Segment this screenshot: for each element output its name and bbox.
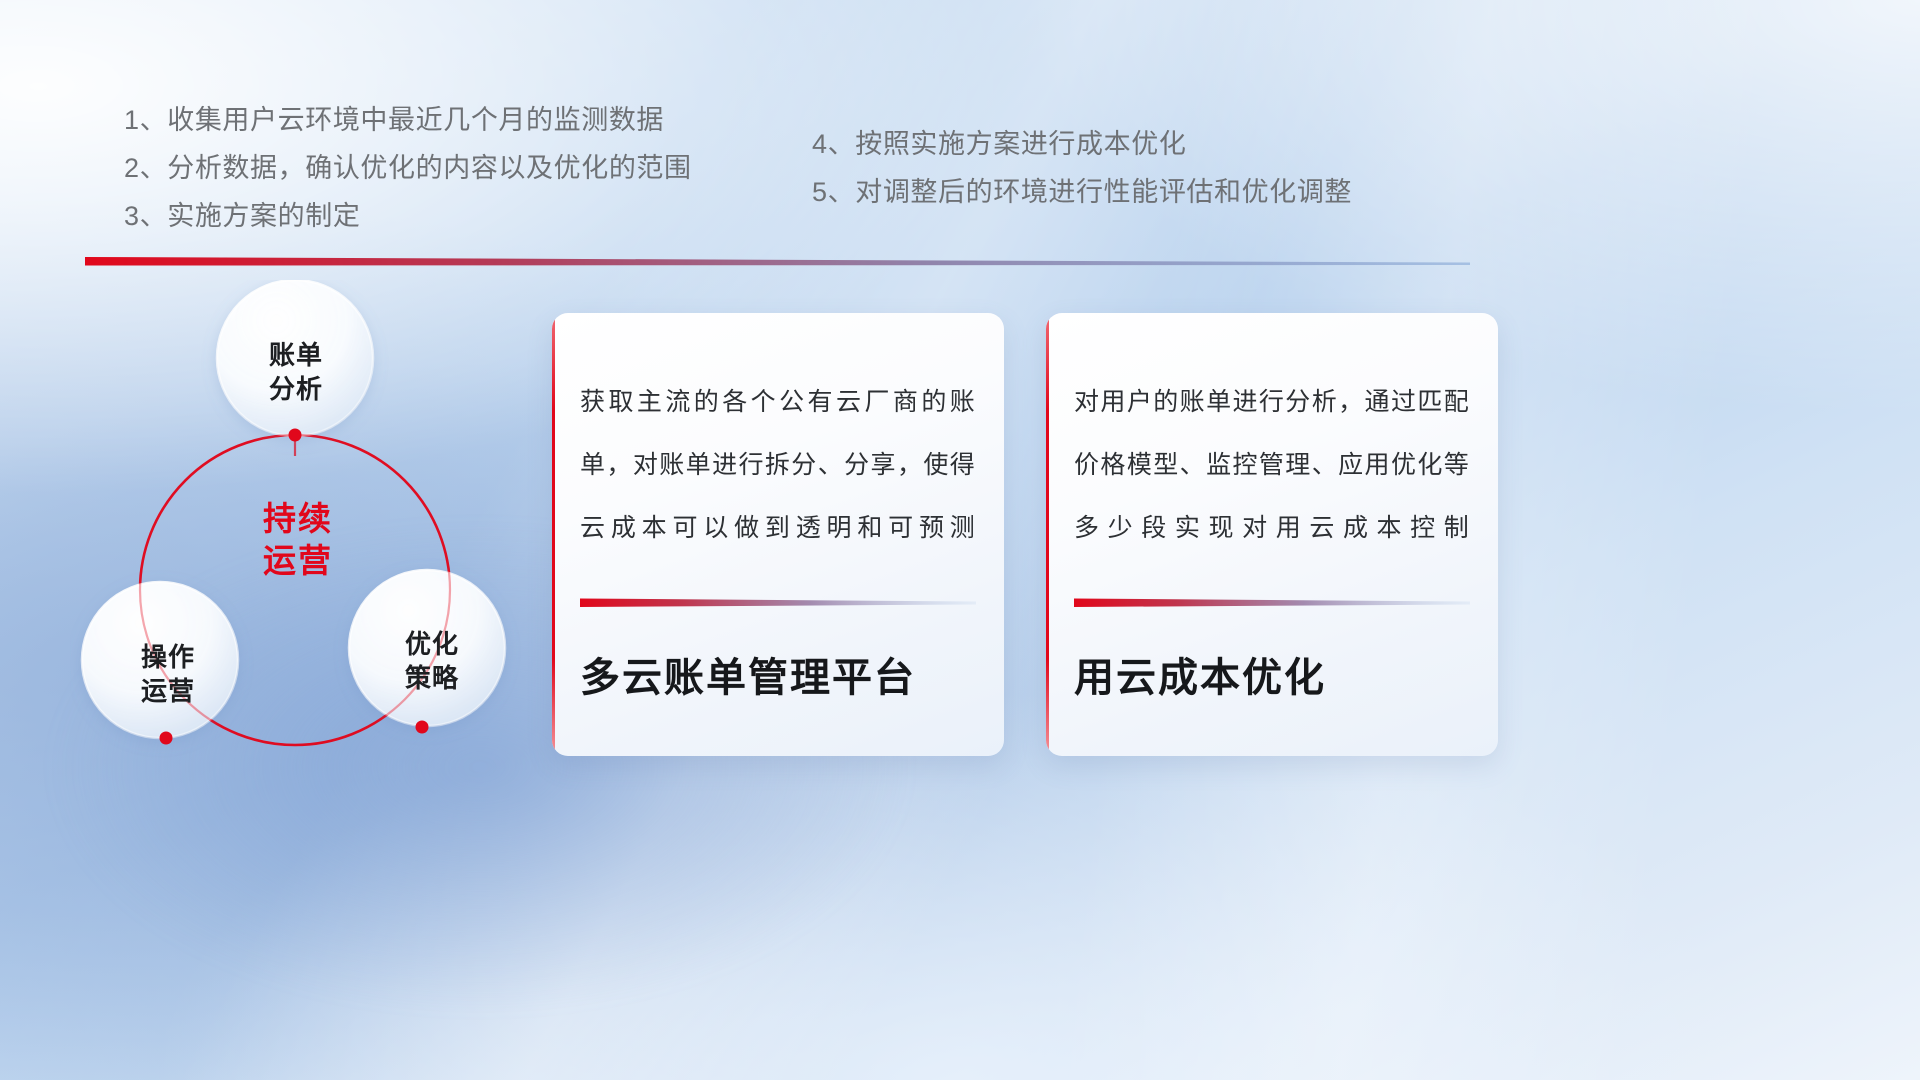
bullet-item-1: 1、收集用户云环境中最近几个月的监测数据 [124, 96, 692, 144]
card-body-text: 获取主流的各个公有云厂商的账单，对账单进行拆分、分享，使得云成本可以做到透明和可… [580, 371, 976, 560]
bullet-item-5: 5、对调整后的环境进行性能评估和优化调整 [812, 168, 1352, 216]
slide-canvas: 1、收集用户云环境中最近几个月的监测数据 2、分析数据，确认优化的内容以及优化的… [0, 0, 1920, 1080]
card-divider [580, 597, 976, 608]
venn-bubble-optimization-policy [349, 570, 505, 726]
bullet-item-4: 4、按照实施方案进行成本优化 [812, 120, 1352, 168]
venn-center-label-line2: 运营 [228, 540, 368, 582]
venn-center-label-line1: 持续 [228, 498, 368, 540]
venn-dot-left [160, 732, 173, 745]
card-title: 用云成本优化 [1074, 645, 1474, 703]
card-title: 多云账单管理平台 [580, 645, 980, 703]
bullet-item-3: 3、实施方案的制定 [124, 192, 692, 240]
card-divider [1074, 597, 1470, 608]
venn-dot-top [289, 429, 302, 442]
venn-center-label: 持续 运营 [228, 498, 368, 582]
card-body-text: 对用户的账单进行分析，通过匹配价格模型、监控管理、应用优化等多少段实现对用云成本… [1074, 371, 1470, 560]
info-card-multi-cloud-billing-platform[interactable]: 获取主流的各个公有云厂商的账单，对账单进行拆分、分享，使得云成本可以做到透明和可… [552, 313, 1004, 756]
info-card-cloud-cost-optimization[interactable]: 对用户的账单进行分析，通过匹配价格模型、监控管理、应用优化等多少段实现对用云成本… [1046, 313, 1498, 756]
bullet-list-right: 4、按照实施方案进行成本优化 5、对调整后的环境进行性能评估和优化调整 [812, 120, 1352, 216]
bullet-list-left: 1、收集用户云环境中最近几个月的监测数据 2、分析数据，确认优化的内容以及优化的… [124, 96, 692, 240]
venn-bubble-operations [82, 582, 238, 738]
bullet-item-2: 2、分析数据，确认优化的内容以及优化的范围 [124, 144, 692, 192]
header-divider-rule [85, 256, 1470, 266]
venn-bubble-billing-analysis [217, 280, 373, 436]
venn-dot-right [416, 721, 429, 734]
